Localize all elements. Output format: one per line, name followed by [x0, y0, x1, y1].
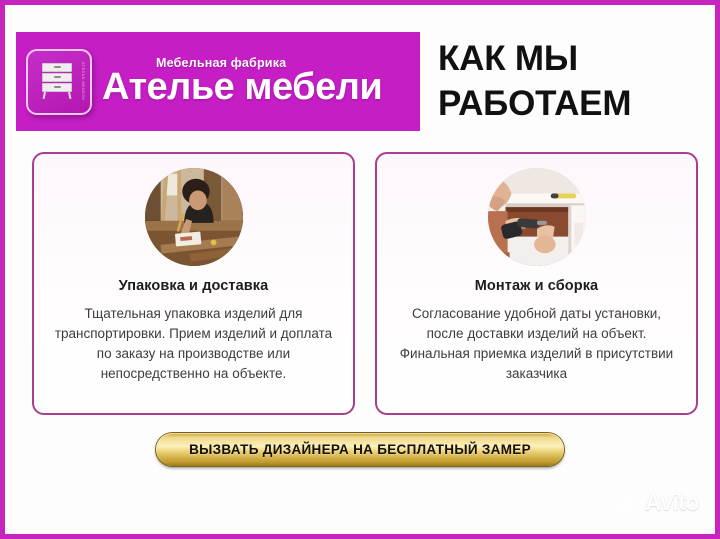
brand-text: Мебельная фабрика Ателье мебели — [102, 56, 420, 107]
logo-side-text: АТЕЛЬЕ МЕБЕЛИ — [79, 55, 87, 109]
page-title-line-1: КАК МЫ — [438, 39, 578, 78]
card-packing-delivery: Упаковка и доставка Тщательная упаковка … — [32, 152, 355, 415]
craftsman-at-workbench-photo — [145, 168, 243, 266]
call-designer-button[interactable]: ВЫЗВАТЬ ДИЗАЙНЕРА НА БЕСПЛАТНЫЙ ЗАМЕР — [156, 433, 564, 466]
avito-dots-icon — [615, 492, 641, 514]
avito-wordmark: Avito — [645, 489, 699, 516]
cta-container: ВЫЗВАТЬ ДИЗАЙНЕРА НА БЕСПЛАТНЫЙ ЗАМЕР — [5, 433, 715, 466]
card-installation-assembly: Монтаж и сборка Согласование удобной дат… — [375, 152, 698, 415]
card-body: Тщательная упаковка изделий для транспор… — [46, 304, 341, 384]
brand-banner: АТЕЛЬЕ МЕБЕЛИ Мебельная фабрика Ателье м… — [16, 32, 420, 131]
card-body: Согласование удобной даты установки, пос… — [389, 304, 684, 384]
page-title: КАК МЫ РАБОТАЕМ — [438, 36, 718, 126]
card-title: Упаковка и доставка — [46, 278, 341, 294]
page-title-line-2: РАБОТАЕМ — [438, 81, 718, 126]
installer-with-drill-photo — [488, 168, 586, 266]
avito-watermark: Avito — [615, 489, 699, 516]
poster-canvas: АТЕЛЬЕ МЕБЕЛИ Мебельная фабрика Ателье м… — [0, 0, 720, 539]
card-title: Монтаж и сборка — [389, 278, 684, 294]
brand-title: Ателье мебели — [102, 67, 420, 107]
header: АТЕЛЬЕ МЕБЕЛИ Мебельная фабрика Ателье м… — [10, 32, 720, 131]
dresser-icon — [42, 63, 72, 97]
step-cards: Упаковка и доставка Тщательная упаковка … — [32, 152, 698, 415]
logo-tile: АТЕЛЬЕ МЕБЕЛИ — [26, 49, 92, 115]
